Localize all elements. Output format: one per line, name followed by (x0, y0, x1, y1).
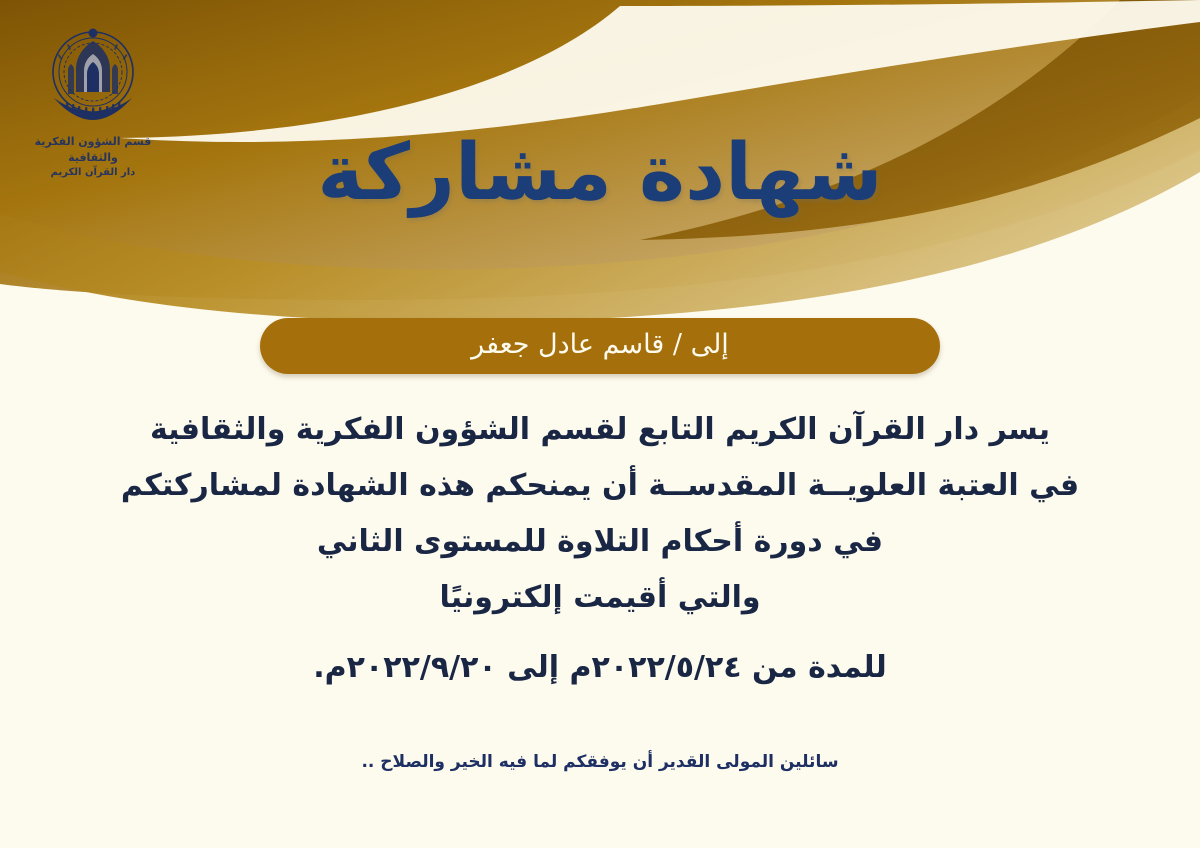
certificate-body: يسر دار القرآن الكريم التابع لقسم الشؤون… (0, 402, 1200, 694)
closing-statement: سائلين المولى القدير أن يوفقكم لما فيه ا… (0, 752, 1200, 772)
body-line: والتي أقيمت إلكترونيًا (0, 570, 1200, 626)
body-line: يسر دار القرآن الكريم التابع لقسم الشؤون… (0, 402, 1200, 458)
alawi-shrine-emblem-icon (38, 24, 148, 132)
recipient-badge-container: إلى / قاسم عادل جعفر (0, 318, 1200, 374)
body-line: في دورة أحكام التلاوة للمستوى الثاني (0, 514, 1200, 570)
recipient-name-badge: إلى / قاسم عادل جعفر (260, 318, 940, 374)
body-line: في العتبة العلويــة المقدســة أن يمنحكم … (0, 458, 1200, 514)
certificate-page: قسم الشؤون الفكرية والثقافية دار القرآن … (0, 0, 1200, 848)
page-title: شهادة مشاركة (0, 128, 1200, 218)
certificate-date-range: للمدة من ٢٠٢٢/٥/٢٤م إلى ٢٠٢٢/٩/٢٠م. (0, 642, 1200, 694)
